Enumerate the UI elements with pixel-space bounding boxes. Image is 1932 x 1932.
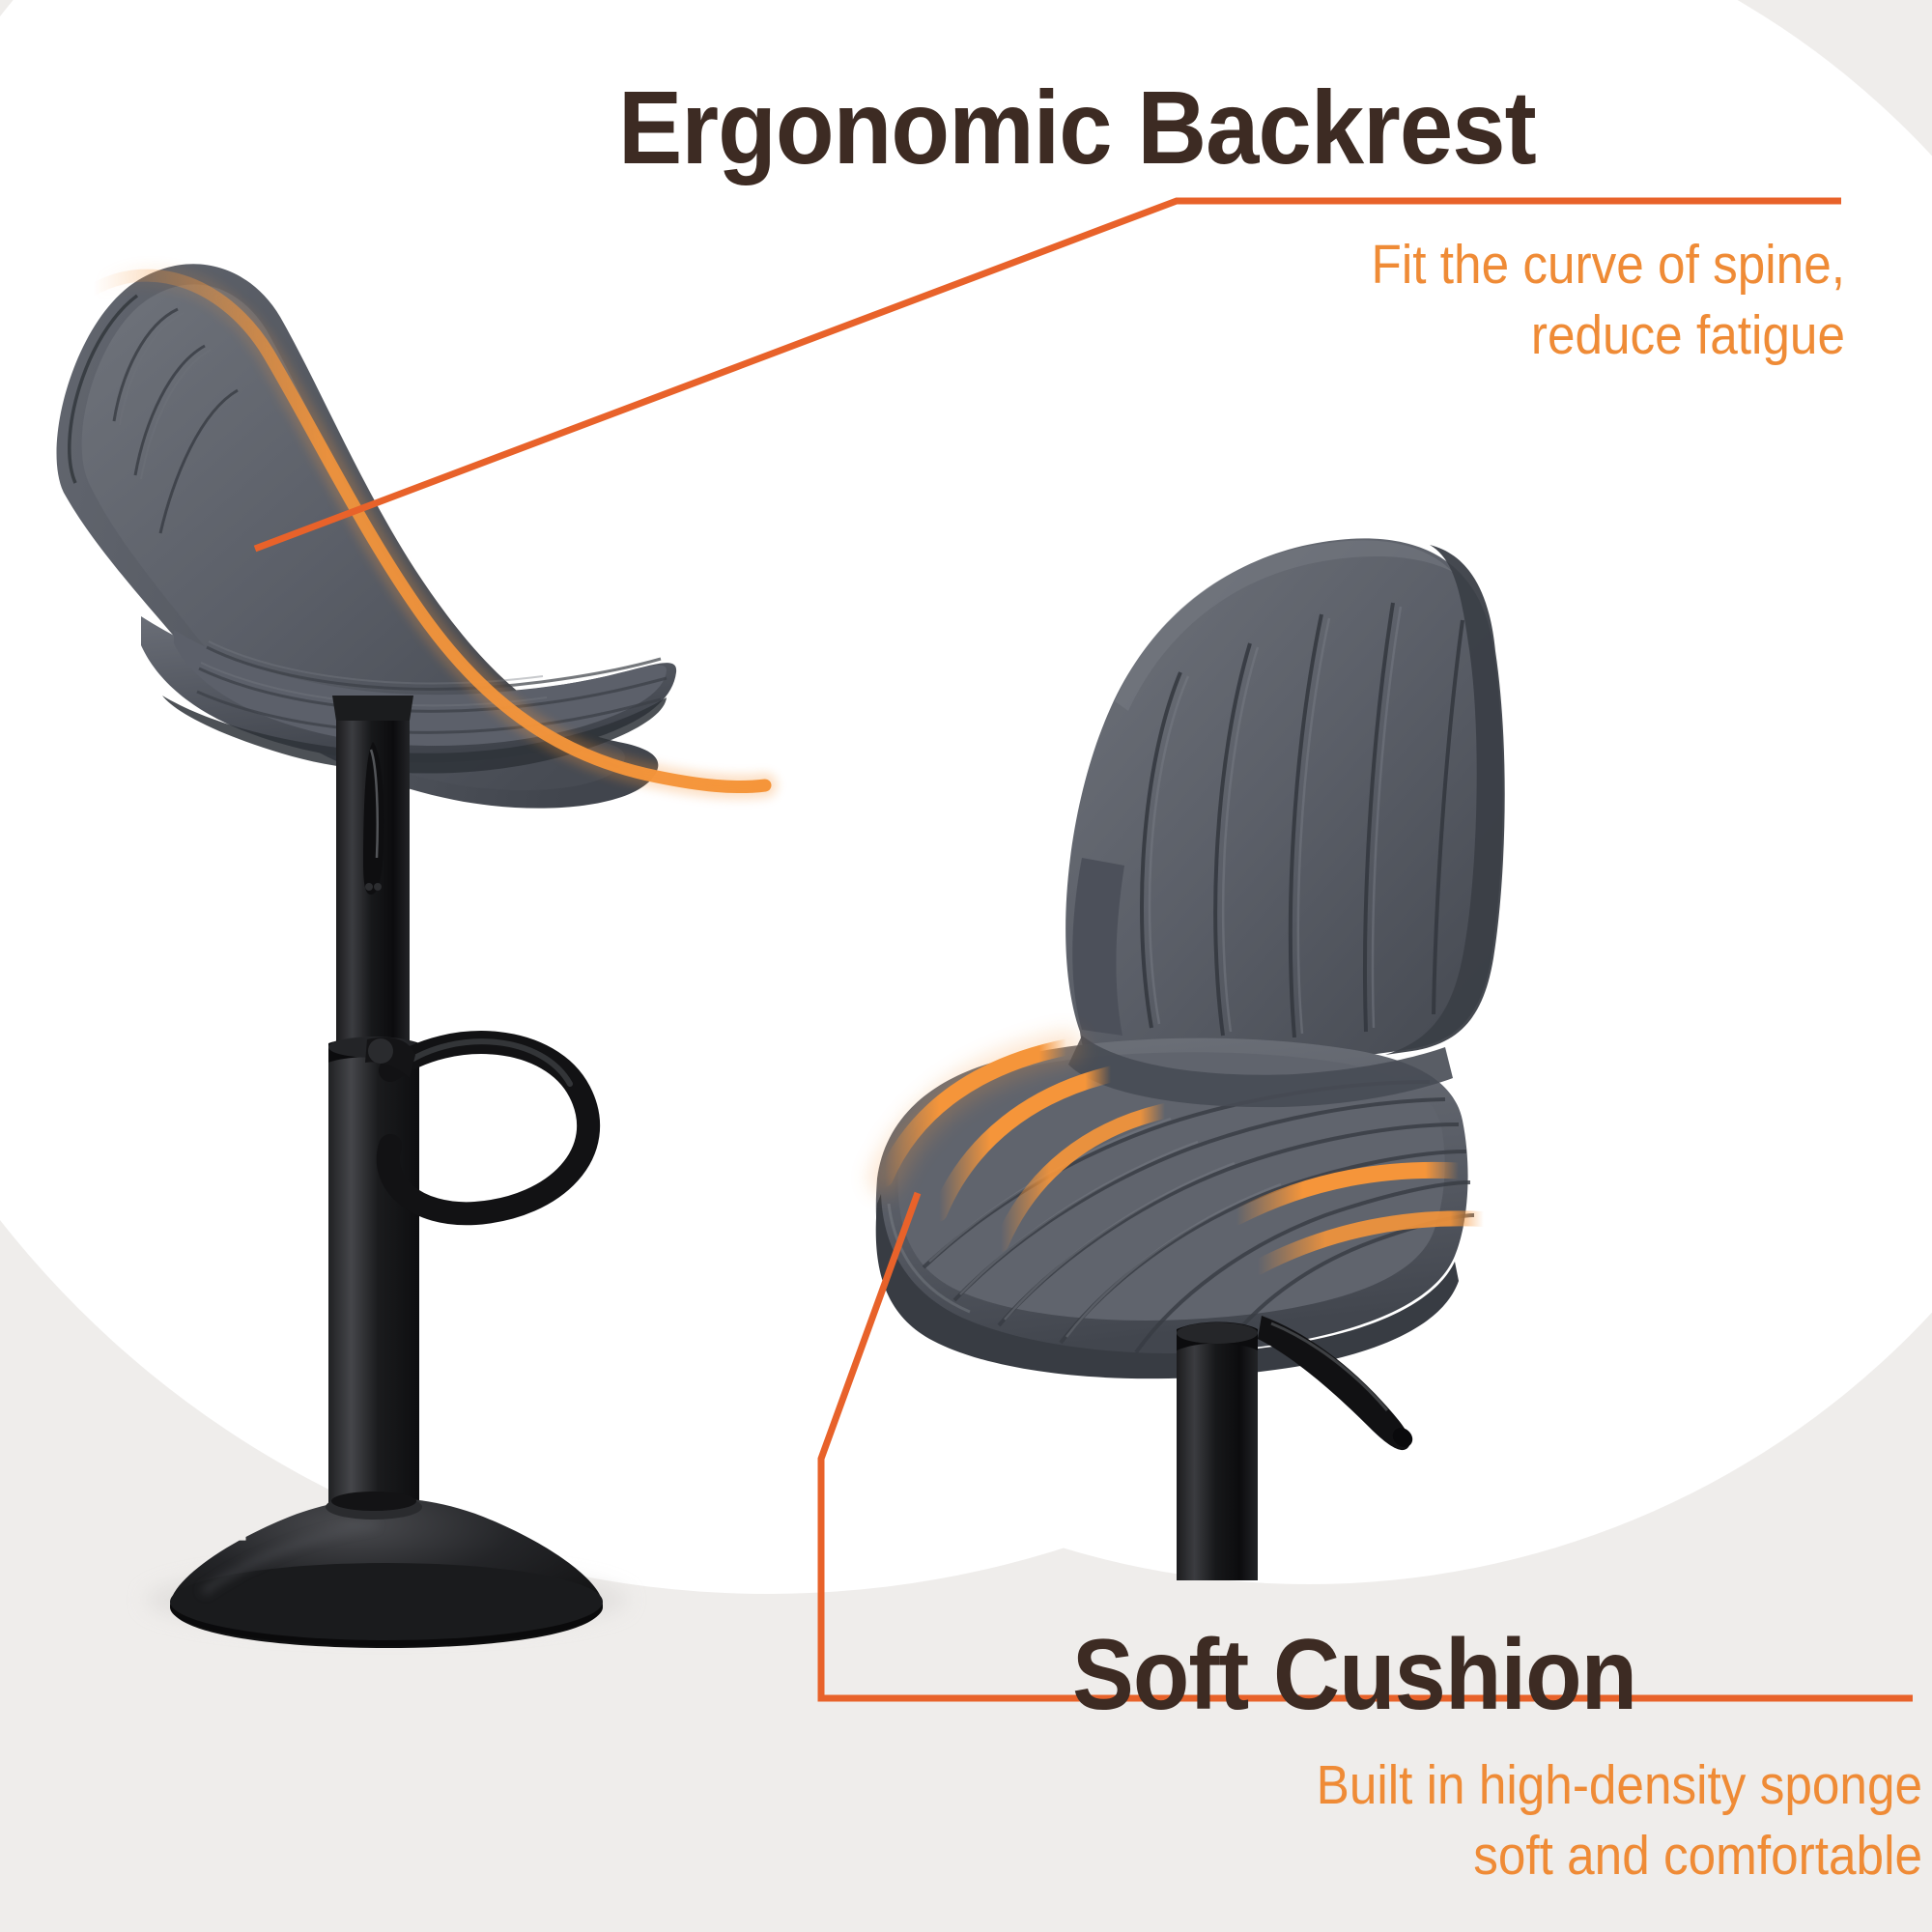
- caption-line-1: Fit the curve of spine,: [810, 230, 1845, 300]
- feature-title-soft-cushion: Soft Cushion: [1072, 1625, 1636, 1725]
- feature-caption-soft-cushion: Built in high-density sponge soft and co…: [836, 1750, 1922, 1891]
- feature-title-ergonomic-backrest: Ergonomic Backrest: [618, 75, 1536, 180]
- caption-line-2: reduce fatigue: [810, 300, 1845, 371]
- caption-line-1: Built in high-density sponge: [836, 1750, 1922, 1821]
- caption-line-2: soft and comfortable: [836, 1821, 1922, 1891]
- feature-caption-ergonomic-backrest: Fit the curve of spine, reduce fatigue: [810, 230, 1845, 371]
- infographic-canvas: Ergonomic Backrest Fit the curve of spin…: [0, 0, 1932, 1932]
- callout-ergonomic-backrest: [174, 116, 1893, 696]
